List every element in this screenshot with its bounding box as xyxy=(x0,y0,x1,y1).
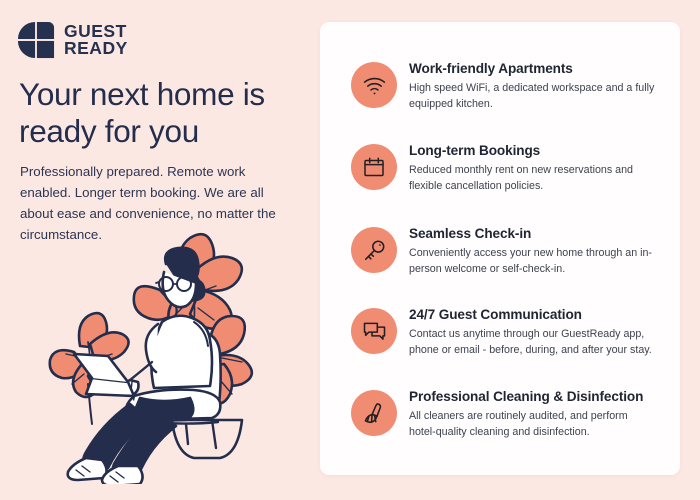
feature-description: Reduced monthly rent on new reservations… xyxy=(409,163,655,194)
calendar-icon xyxy=(362,155,386,179)
feature-title: Work-friendly Apartments xyxy=(409,61,655,78)
brand-name-line2: READY xyxy=(64,40,128,57)
feature-text-block: Seamless Check-in Conveniently access yo… xyxy=(409,225,655,277)
feature-icon-badge xyxy=(351,144,397,190)
feature-item-guest-communication[interactable]: 24/7 Guest Communication Contact us anyt… xyxy=(351,306,661,358)
feature-title: Long-term Bookings xyxy=(409,143,655,160)
feature-item-seamless-check-in[interactable]: Seamless Check-in Conveniently access yo… xyxy=(351,225,661,277)
chat-bubbles-icon xyxy=(362,319,387,344)
key-icon xyxy=(362,238,387,263)
feature-description: Contact us anytime through our GuestRead… xyxy=(409,327,655,358)
feature-text-block: Professional Cleaning & Disinfection All… xyxy=(409,388,655,440)
page-title: Your next home is ready for you xyxy=(19,76,309,150)
features-card: Work-friendly Apartments High speed WiFi… xyxy=(320,22,680,475)
feature-text-block: 24/7 Guest Communication Contact us anyt… xyxy=(409,306,655,358)
brand-wordmark: GUEST READY xyxy=(64,23,128,57)
broom-icon xyxy=(362,401,387,426)
feature-description: Conveniently access your new home throug… xyxy=(409,246,655,277)
feature-icon-badge xyxy=(351,62,397,108)
feature-description: All cleaners are routinely audited, and … xyxy=(409,409,655,440)
feature-item-professional-cleaning[interactable]: Professional Cleaning & Disinfection All… xyxy=(351,388,661,440)
feature-title: Professional Cleaning & Disinfection xyxy=(409,389,655,406)
feature-title: 24/7 Guest Communication xyxy=(409,307,655,324)
feature-item-work-friendly-apartments[interactable]: Work-friendly Apartments High speed WiFi… xyxy=(351,60,661,112)
feature-icon-badge xyxy=(351,390,397,436)
feature-text-block: Work-friendly Apartments High speed WiFi… xyxy=(409,60,655,112)
feature-title: Seamless Check-in xyxy=(409,226,655,243)
feature-icon-badge xyxy=(351,227,397,273)
feature-text-block: Long-term Bookings Reduced monthly rent … xyxy=(409,142,655,194)
feature-icon-badge xyxy=(351,308,397,354)
brand-logo[interactable]: GUEST READY xyxy=(17,21,128,59)
hero-left-column: GUEST READY Your next home is ready for … xyxy=(0,0,320,500)
hero-illustration xyxy=(34,228,306,484)
wifi-icon xyxy=(362,73,387,98)
guestready-quadrant-logo-icon xyxy=(17,21,55,59)
feature-description: High speed WiFi, a dedicated workspace a… xyxy=(409,81,655,112)
feature-item-long-term-bookings[interactable]: Long-term Bookings Reduced monthly rent … xyxy=(351,142,661,194)
